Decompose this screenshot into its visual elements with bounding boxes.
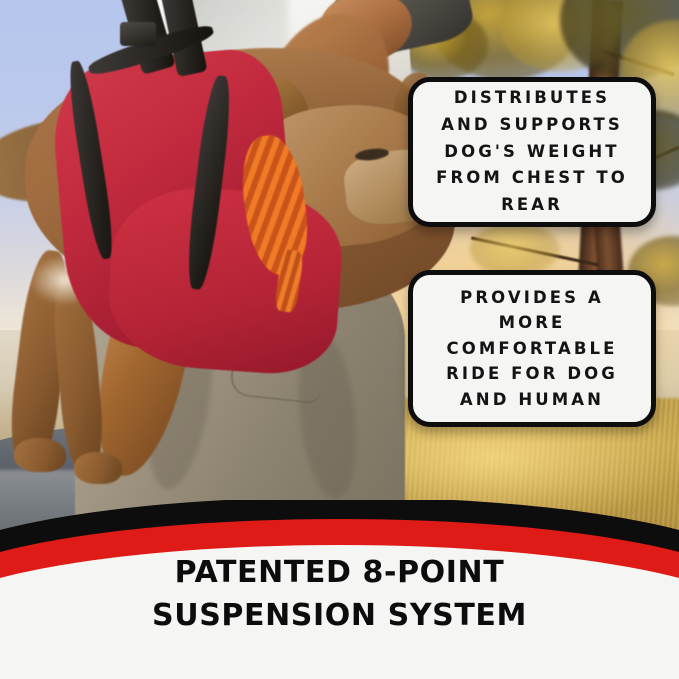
bottom-banner: Patented 8-point Suspension System <box>0 500 679 679</box>
lifestyle-photo: Distributes and supports dog's weight fr… <box>0 0 679 545</box>
dog-paw <box>14 438 66 472</box>
harness-lower-panel <box>104 182 346 378</box>
banner-headline: Patented 8-point Suspension System <box>0 552 679 637</box>
harness-buckle <box>120 22 156 46</box>
pine-needles <box>470 222 560 277</box>
product-feature-image: Distributes and supports dog's weight fr… <box>0 0 679 679</box>
feature-callout-box-2: Provides a more comfortable ride for dog… <box>408 270 656 427</box>
dog-paw <box>74 452 122 484</box>
feature-callout-text-1: Distributes and supports dog's weight fr… <box>424 85 640 219</box>
feature-callout-box-1: Distributes and supports dog's weight fr… <box>408 77 656 227</box>
feature-callout-text-2: Provides a more comfortable ride for dog… <box>434 285 630 413</box>
